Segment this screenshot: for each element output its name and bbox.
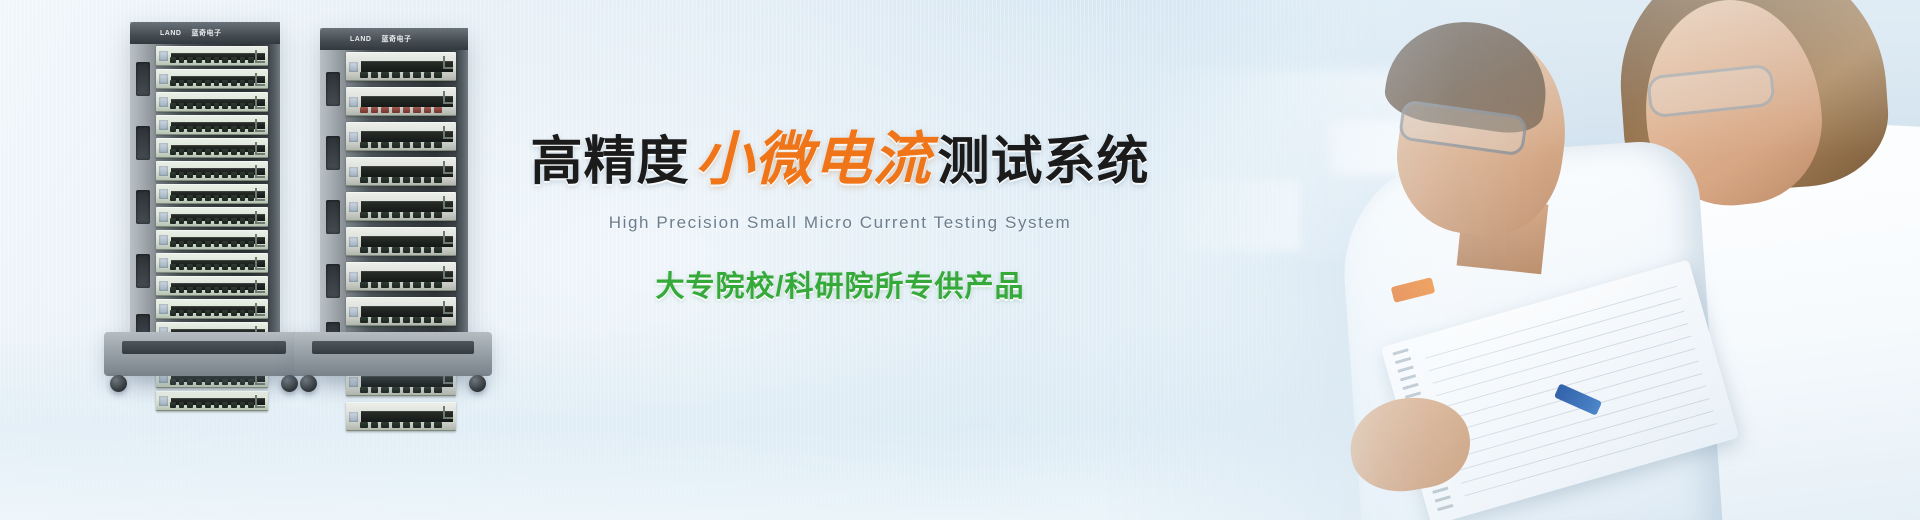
instrument-unit <box>156 184 268 204</box>
rack-1-brand-left: LAND <box>160 30 181 37</box>
lab-equipment-blur <box>1180 180 1300 250</box>
rack-1-right-post <box>268 22 280 374</box>
rack-2-brand-header: LAND 蓝奇电子 <box>320 28 468 50</box>
rack-1-base-plate <box>122 341 286 354</box>
caster-wheel <box>110 375 127 392</box>
lab-researchers-photo <box>1100 0 1920 520</box>
rack-1: LAND 蓝奇电子 <box>130 22 280 374</box>
instrument-unit <box>346 52 456 81</box>
rack-2-base-plate <box>312 341 474 354</box>
instrument-unit <box>156 207 268 227</box>
instrument-unit <box>156 391 268 411</box>
headline-accent: 小微电流 <box>689 125 937 193</box>
rack-2-right-post <box>456 28 468 374</box>
instrument-unit <box>346 192 456 221</box>
headline-trail: 测试系统 <box>938 133 1150 191</box>
rack-2-brand-right: 蓝奇电子 <box>381 34 411 44</box>
rack-1-brand-header: LAND 蓝奇电子 <box>130 22 280 44</box>
instrument-unit <box>156 69 268 89</box>
rack-2: LAND 蓝奇电子 <box>320 28 468 374</box>
caster-wheel <box>469 375 486 392</box>
rack-2-slots <box>346 52 456 374</box>
instrument-unit <box>156 92 268 112</box>
rack-1-left-post <box>130 22 157 374</box>
instrument-unit <box>156 138 268 158</box>
caster-wheel <box>300 375 317 392</box>
instrument-unit <box>156 161 268 181</box>
rack-1-frame: LAND 蓝奇电子 <box>130 22 280 374</box>
rack-1-brand-right: 蓝奇电子 <box>191 28 221 38</box>
instrument-unit <box>156 46 268 66</box>
instrument-unit <box>156 276 268 296</box>
instrument-unit <box>156 299 268 319</box>
rack-2-left-post <box>320 28 347 374</box>
instrument-unit <box>346 227 456 256</box>
tagline: 大专院校/科研院所专供产品 <box>520 263 1160 305</box>
instrument-unit <box>156 253 268 273</box>
product-banner: LAND 蓝奇电子 <box>0 0 1920 520</box>
rack-2-brand-left: LAND <box>350 36 371 43</box>
rack-1-base <box>104 332 304 376</box>
page-title: 高精度小微电流测试系统 <box>520 128 1160 191</box>
instrument-unit <box>346 122 456 151</box>
instrument-unit <box>156 115 268 135</box>
banner-copy: 高精度小微电流测试系统 High Precision Small Micro C… <box>520 128 1160 305</box>
instrument-racks: LAND 蓝奇电子 <box>0 0 560 520</box>
rack-2-frame: LAND 蓝奇电子 <box>320 28 468 374</box>
instrument-unit <box>346 87 456 116</box>
instrument-unit <box>156 230 268 250</box>
instrument-unit <box>346 262 456 291</box>
instrument-unit <box>346 402 456 431</box>
caster-wheel <box>281 375 298 392</box>
subtitle-english: High Precision Small Micro Current Testi… <box>520 213 1160 233</box>
headline-lead: 高精度 <box>530 133 689 191</box>
instrument-unit <box>346 297 456 326</box>
rack-1-slots <box>156 46 268 374</box>
rack-2-base <box>294 332 492 376</box>
instrument-unit <box>346 157 456 186</box>
